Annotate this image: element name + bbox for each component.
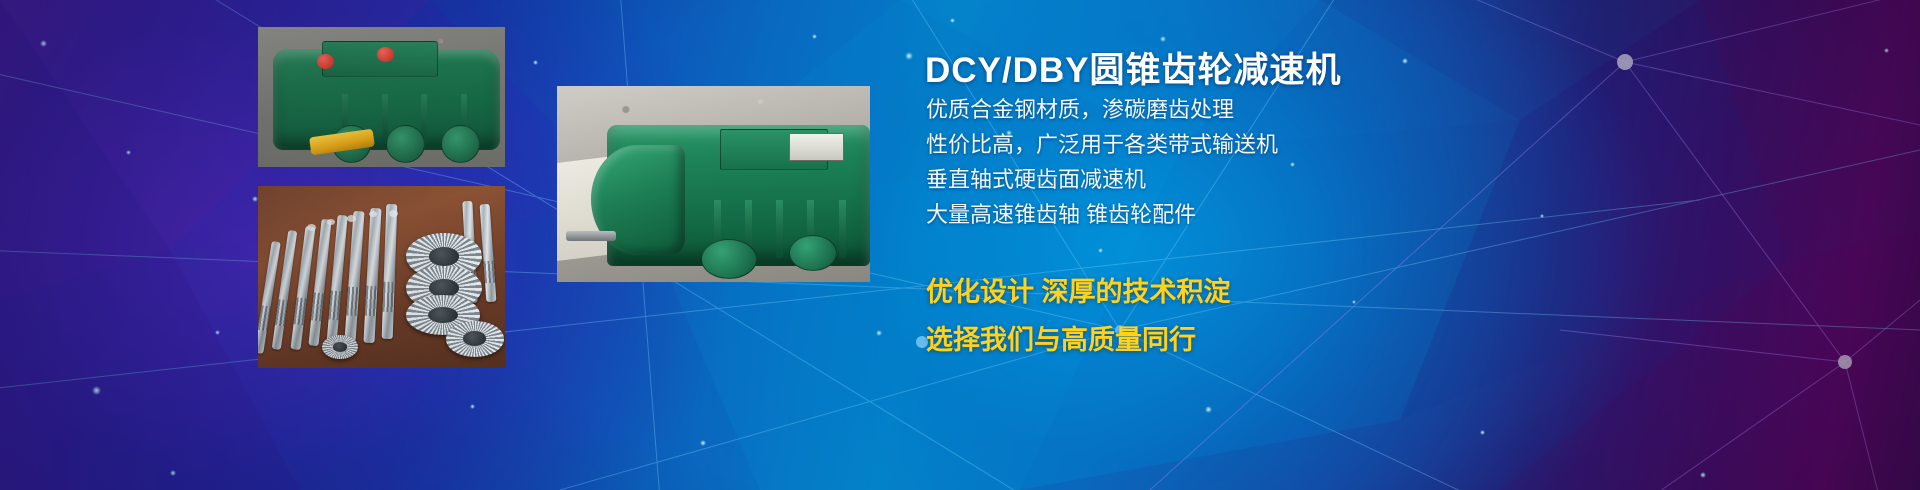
product-banner: DCY/DBY圆锥齿轮减速机 优质合金钢材质，渗碳磨齿处理 性价比高，广泛用于各…	[0, 0, 1920, 490]
vignette-overlay	[0, 0, 1920, 490]
